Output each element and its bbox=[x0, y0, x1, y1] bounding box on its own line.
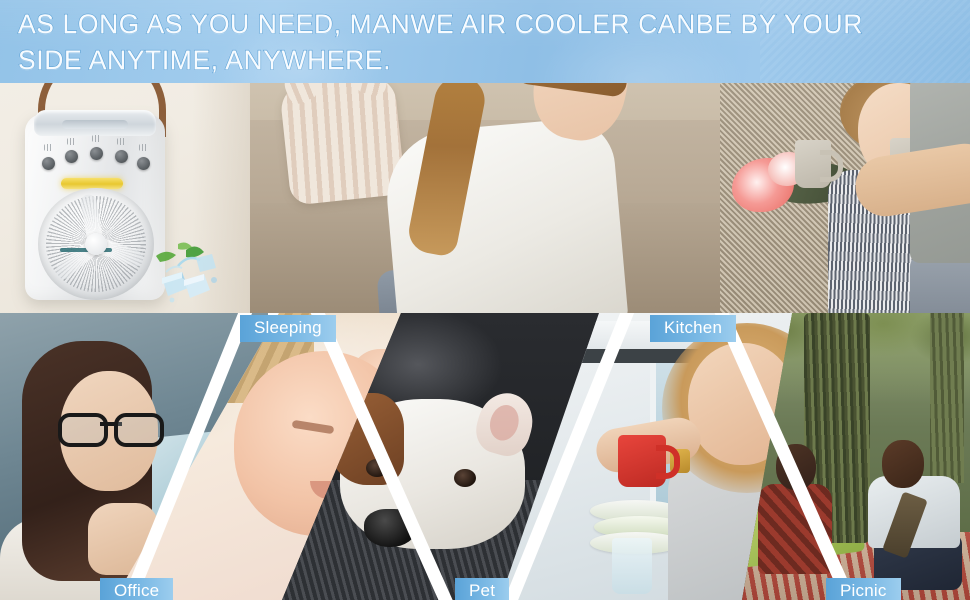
label-picnic: Picnic bbox=[826, 578, 901, 600]
air-cooler-product bbox=[18, 52, 173, 302]
timer-icon bbox=[117, 138, 126, 145]
mist-icon bbox=[92, 135, 101, 142]
light-icon bbox=[139, 144, 148, 151]
product-button-4 bbox=[115, 150, 128, 163]
product-banner: AS LONG AS YOU NEED, MANWE AIR COOLER CA… bbox=[0, 0, 970, 600]
power-icon bbox=[44, 144, 53, 151]
page-title: AS LONG AS YOU NEED, MANWE AIR COOLER CA… bbox=[18, 6, 962, 78]
dog-eye-right bbox=[454, 469, 476, 487]
product-lid bbox=[34, 110, 156, 136]
red-mug bbox=[618, 435, 666, 487]
mug-left bbox=[795, 140, 831, 188]
fan-speed-icon bbox=[67, 138, 76, 145]
scenario-panels bbox=[0, 313, 970, 600]
label-pet: Pet bbox=[455, 578, 509, 600]
label-office: Office bbox=[100, 578, 173, 600]
product-button-3 bbox=[90, 147, 103, 160]
glasses-lens-left bbox=[58, 413, 108, 447]
picnic-person-right-head bbox=[882, 440, 924, 488]
product-fan bbox=[38, 188, 154, 300]
label-sleeping: Sleeping bbox=[240, 315, 336, 342]
product-button-5 bbox=[137, 157, 150, 170]
glasses-icon bbox=[58, 413, 164, 439]
glasses-lens-right bbox=[114, 413, 164, 447]
product-button-1 bbox=[42, 157, 55, 170]
fan-hub bbox=[85, 233, 107, 255]
product-control-panel bbox=[40, 140, 152, 170]
ice-cubes-icon bbox=[152, 238, 226, 306]
drinking-glass bbox=[612, 538, 652, 594]
label-kitchen: Kitchen bbox=[650, 315, 736, 342]
product-button-2 bbox=[65, 150, 78, 163]
